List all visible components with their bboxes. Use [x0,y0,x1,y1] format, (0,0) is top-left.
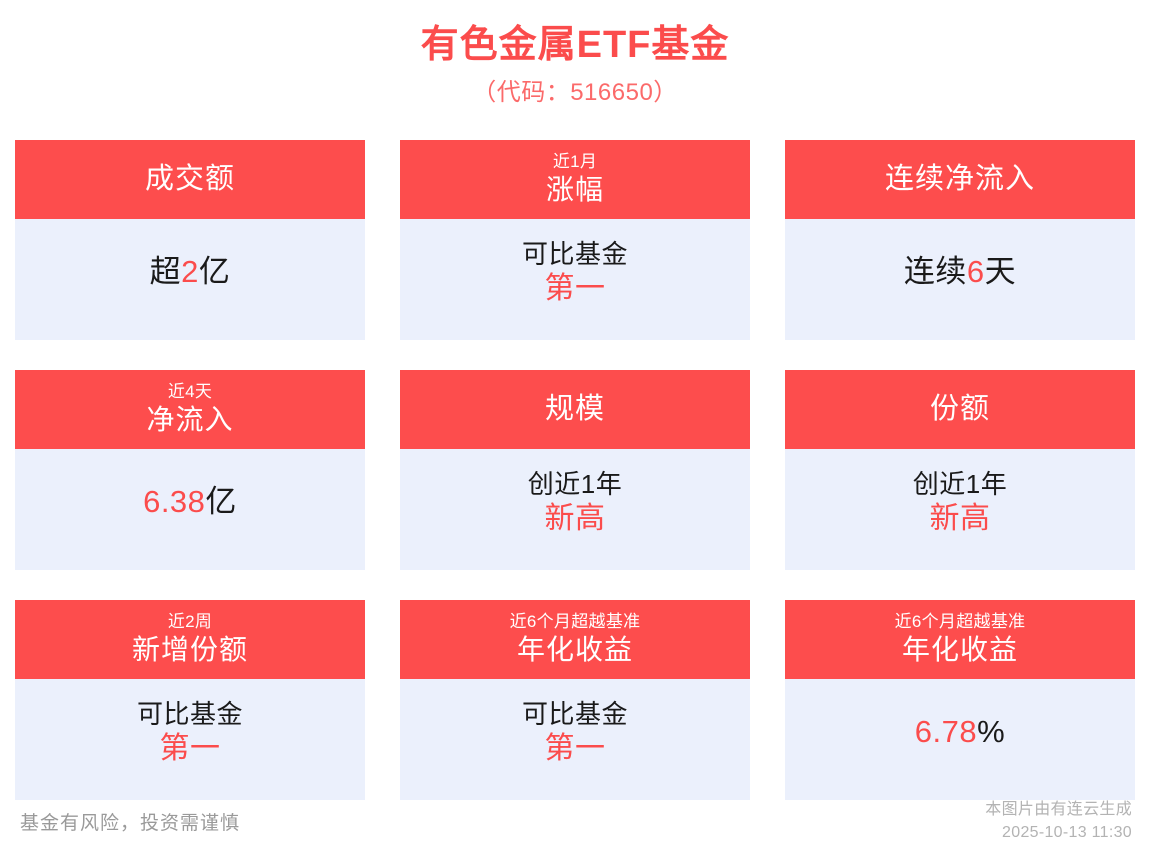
metric-card-body: 6.78% [785,679,1135,800]
risk-disclaimer: 基金有风险，投资需谨慎 [20,808,240,835]
metric-value-suffix: 亿 [199,254,231,289]
fund-code: （代码：516650） [0,76,1150,111]
metric-card-body: 创近1年新高 [785,449,1135,570]
metric-card-body: 超2亿 [15,219,365,340]
metric-card-header: 近1月涨幅 [400,140,750,219]
metric-card-header: 近6个月超越基准年化收益 [400,600,750,679]
metric-value: 第一 [545,270,606,308]
poster-root: 有色金属ETF基金 （代码：516650） 成交额超2亿近1月涨幅可比基金第一连… [0,0,1150,860]
metric-card-body: 6.38亿 [15,449,365,570]
metric-value: 第一 [545,730,606,768]
credit-timestamp: 2025-10-13 11:30 [985,821,1132,844]
metric-card: 近1月涨幅可比基金第一 [400,140,750,340]
metric-value-highlight: 第一 [545,732,606,765]
metric-card-header: 规模 [400,370,750,449]
metric-value-caption: 可比基金 [137,698,243,731]
metric-card-header: 近4天净流入 [15,370,365,449]
metric-value: 连续6天 [904,253,1016,292]
metric-card-header: 连续净流入 [785,140,1135,219]
metric-card-header: 成交额 [15,140,365,219]
metric-card-title: 份额 [930,392,990,427]
metric-value-highlight: 6.78 [915,714,977,749]
metric-value-caption: 可比基金 [522,238,628,271]
metric-card-title: 新增份额 [132,633,248,667]
metric-value-highlight: 第一 [545,272,606,305]
metric-value-caption: 创近1年 [528,468,622,501]
metric-value-highlight: 新高 [545,502,606,535]
metric-card: 成交额超2亿 [15,140,365,340]
metric-card-subtitle: 近4天 [168,382,212,402]
metric-card-title: 年化收益 [902,633,1018,667]
metric-card: 份额创近1年新高 [785,370,1135,570]
metric-card-body: 连续6天 [785,219,1135,340]
metric-value: 新高 [545,500,606,538]
metric-card-grid: 成交额超2亿近1月涨幅可比基金第一连续净流入连续6天近4天净流入6.38亿规模创… [15,140,1135,800]
page-title: 有色金属ETF基金 [0,22,1150,70]
metric-value: 第一 [160,730,221,768]
metric-card-body: 可比基金第一 [400,679,750,800]
metric-card: 连续净流入连续6天 [785,140,1135,340]
metric-card: 近4天净流入6.38亿 [15,370,365,570]
metric-value-highlight: 6 [967,254,985,289]
metric-card: 近6个月超越基准年化收益可比基金第一 [400,600,750,800]
metric-value-highlight: 6.38 [143,484,205,519]
metric-value: 超2亿 [150,253,231,292]
poster-header: 有色金属ETF基金 （代码：516650） [0,0,1150,110]
metric-card-header: 份额 [785,370,1135,449]
metric-card-body: 创近1年新高 [400,449,750,570]
metric-card: 近6个月超越基准年化收益6.78% [785,600,1135,800]
metric-value-prefix: 连续 [904,254,967,289]
credit-source: 本图片由有连云生成 [985,798,1132,821]
metric-value-suffix: 天 [985,254,1017,289]
metric-value-highlight: 2 [181,254,199,289]
metric-value: 新高 [930,500,991,538]
metric-card-header: 近2周新增份额 [15,600,365,679]
metric-card-title: 连续净流入 [885,162,1035,197]
metric-card-body: 可比基金第一 [15,679,365,800]
metric-card-title: 净流入 [146,403,233,437]
metric-value-caption: 可比基金 [522,698,628,731]
metric-card: 近2周新增份额可比基金第一 [15,600,365,800]
metric-card-subtitle: 近6个月超越基准 [895,612,1026,632]
metric-card-title: 年化收益 [517,633,633,667]
metric-value: 6.38亿 [143,483,237,522]
metric-value-prefix: 超 [150,254,182,289]
metric-value-caption: 创近1年 [913,468,1007,501]
metric-card-subtitle: 近1月 [553,152,597,172]
generation-credit: 本图片由有连云生成 2025-10-13 11:30 [985,798,1132,844]
poster-footer: 基金有风险，投资需谨慎 本图片由有连云生成 2025-10-13 11:30 [0,790,1150,860]
metric-card-title: 涨幅 [546,173,604,207]
metric-card-subtitle: 近6个月超越基准 [510,612,641,632]
metric-card: 规模创近1年新高 [400,370,750,570]
metric-card-body: 可比基金第一 [400,219,750,340]
metric-card-subtitle: 近2周 [168,612,212,632]
metric-value-highlight: 第一 [160,732,221,765]
metric-card-title: 成交额 [145,162,235,197]
metric-card-title: 规模 [545,392,605,427]
metric-card-header: 近6个月超越基准年化收益 [785,600,1135,679]
metric-value-suffix: % [977,714,1005,749]
metric-value: 6.78% [915,713,1005,752]
metric-value-suffix: 亿 [205,484,237,519]
metric-value-highlight: 新高 [930,502,991,535]
